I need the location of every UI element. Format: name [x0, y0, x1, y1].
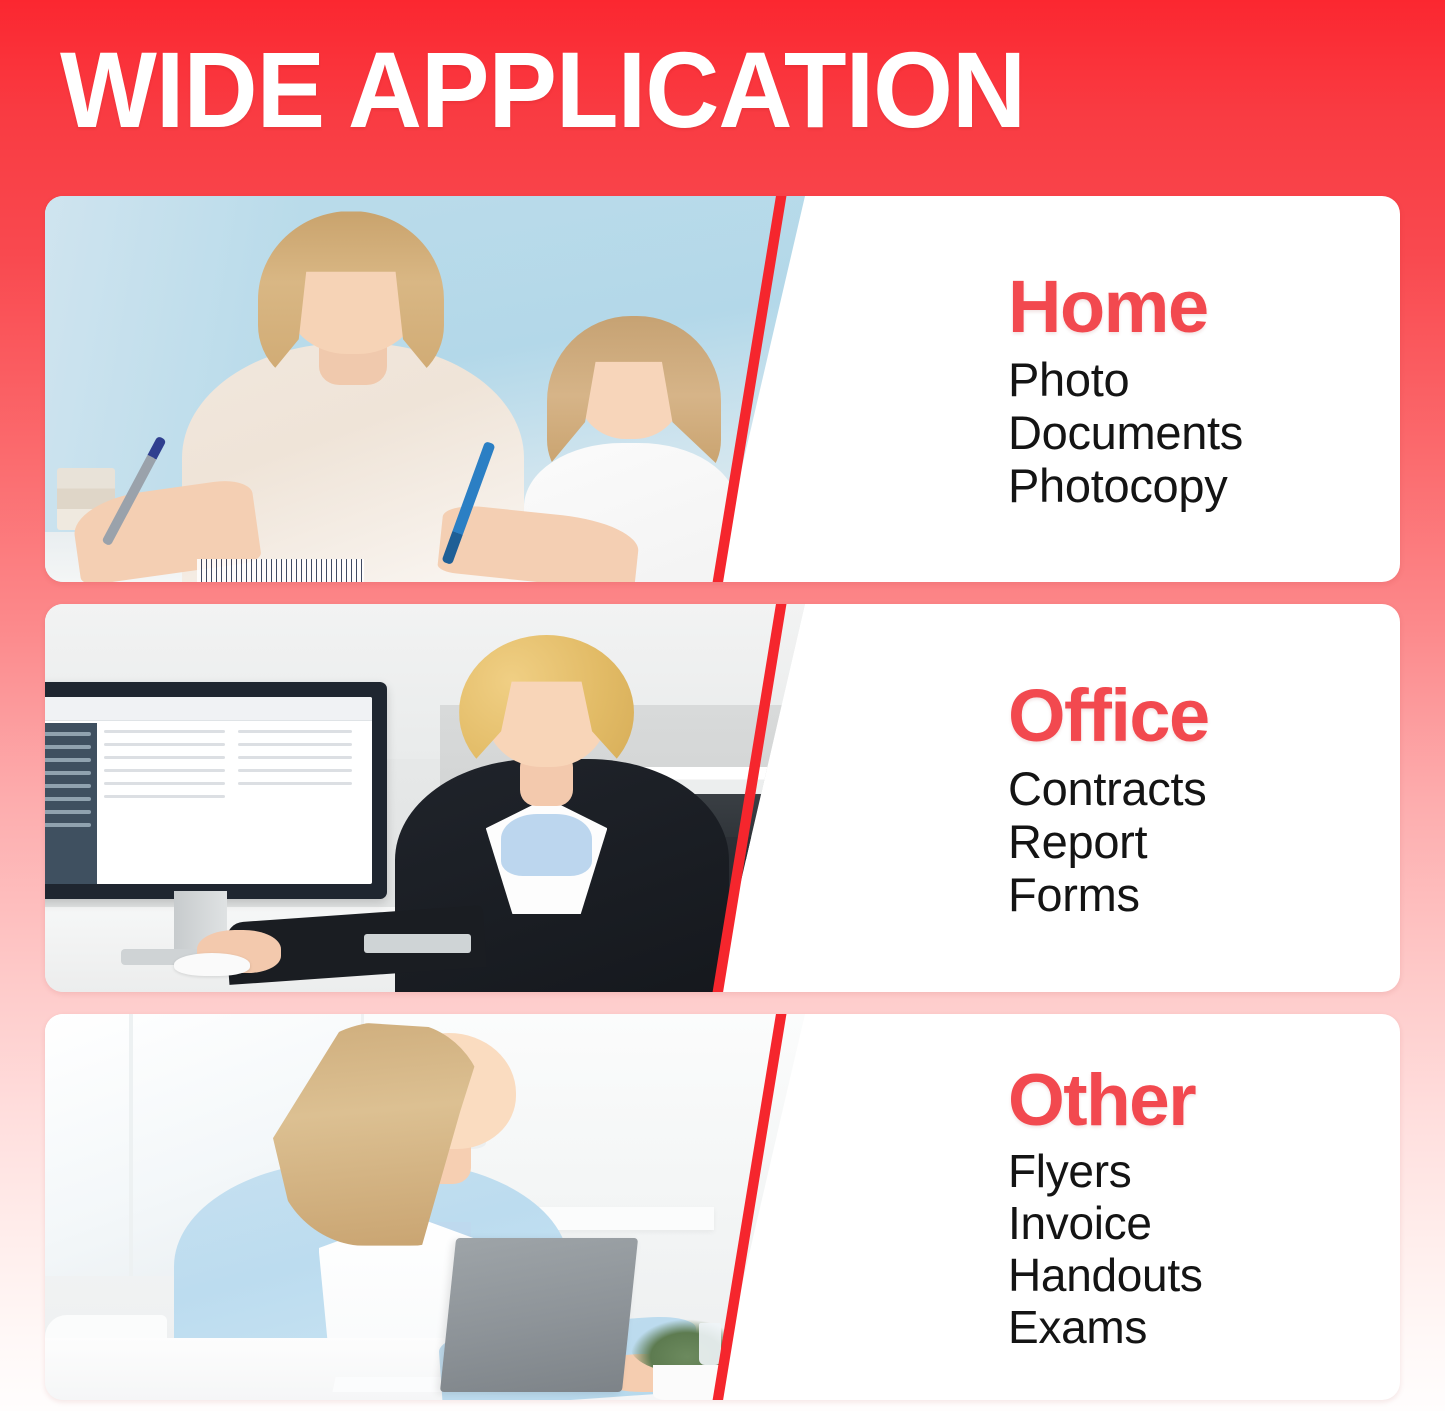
- list-item: Report: [1008, 815, 1400, 868]
- card-list-office: Contracts Report Forms: [1008, 762, 1400, 921]
- card-photo-other: [45, 1014, 805, 1400]
- scene-office-desk: [45, 604, 805, 992]
- monitor-screen: [45, 697, 372, 884]
- application-card-home: Home Photo Documents Photocopy: [45, 196, 1400, 582]
- list-item: Forms: [1008, 868, 1400, 921]
- card-title-office: Office: [1008, 676, 1400, 756]
- laptop: [440, 1238, 639, 1392]
- scene-laboratory: [45, 1014, 805, 1400]
- blue-bow-tie: [501, 814, 592, 876]
- document-column-left: [104, 730, 225, 876]
- card-title-home: Home: [1008, 267, 1400, 347]
- desktop-monitor: [45, 682, 387, 899]
- application-card-other: Other Flyers Invoice Handouts Exams: [45, 1014, 1400, 1400]
- card-title-other: Other: [1008, 1061, 1400, 1141]
- app-sidebar: [45, 723, 97, 884]
- page-title: WIDE APPLICATION: [60, 36, 1324, 144]
- window-frame-bar: [129, 1014, 133, 1276]
- card-photo-home: [45, 196, 805, 582]
- card-photo-office: [45, 604, 805, 992]
- test-tube: [767, 1323, 797, 1373]
- card-list-other: Flyers Invoice Handouts Exams: [1008, 1145, 1400, 1353]
- application-card-office: Office Contracts Report Forms: [45, 604, 1400, 992]
- test-tube: [699, 1323, 722, 1365]
- card-text-home: Home Photo Documents Photocopy: [835, 196, 1400, 582]
- computer-mouse: [174, 953, 250, 976]
- test-tube: [729, 1315, 759, 1377]
- list-item: Contracts: [1008, 762, 1400, 815]
- notepad: [197, 559, 364, 582]
- plant-pot: [653, 1365, 721, 1400]
- smartphone: [364, 934, 470, 953]
- card-text-office: Office Contracts Report Forms: [835, 604, 1400, 992]
- list-item: Invoice: [1008, 1197, 1400, 1249]
- list-item: Flyers: [1008, 1145, 1400, 1197]
- wide-application-poster: WIDE APPLICATION: [0, 0, 1445, 1411]
- card-list-home: Photo Documents Photocopy: [1008, 353, 1400, 512]
- list-item: Exams: [1008, 1301, 1400, 1353]
- list-item: Documents: [1008, 406, 1400, 459]
- list-item: Photocopy: [1008, 459, 1400, 512]
- document-column-right: [238, 730, 352, 842]
- scene-home-tutoring: [45, 196, 805, 582]
- card-text-other: Other Flyers Invoice Handouts Exams: [835, 1014, 1400, 1400]
- app-toolbar: [45, 697, 372, 721]
- list-item: Handouts: [1008, 1249, 1400, 1301]
- paper-sheets: [332, 1377, 457, 1392]
- list-item: Photo: [1008, 353, 1400, 406]
